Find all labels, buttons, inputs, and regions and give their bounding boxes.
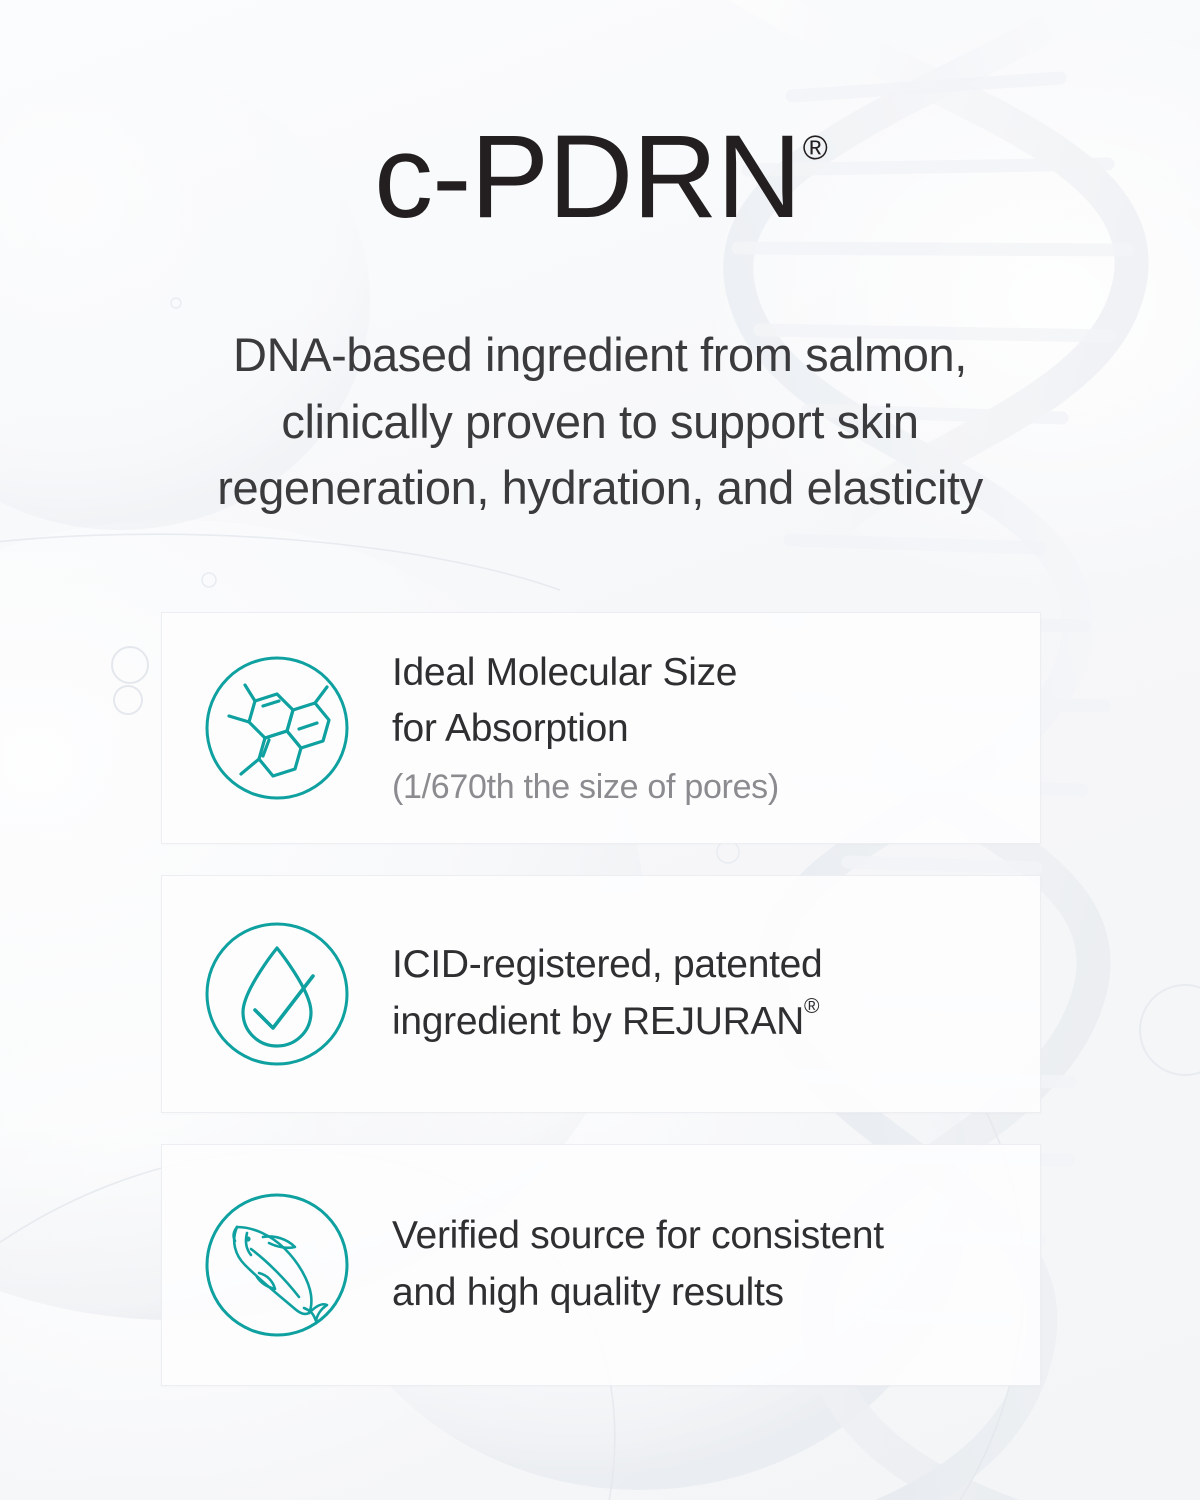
feature-icon-cell <box>162 918 392 1070</box>
subtitle-line-1: DNA-based ingredient from salmon, <box>0 322 1200 389</box>
molecule-icon <box>201 652 353 804</box>
infographic-page: c-PDRN® DNA-based ingredient from salmon… <box>0 0 1200 1500</box>
brand-title-text: c-PDRN <box>374 111 801 243</box>
feature-title-line-2: and high quality results <box>392 1265 1008 1322</box>
feature-title-line-2: for Absorption <box>392 701 1008 758</box>
feature-title-line-1: ICID-registered, patented <box>392 937 1008 994</box>
feature-title-line-1: Ideal Molecular Size <box>392 645 1008 702</box>
fish-icon <box>201 1189 353 1341</box>
registered-trademark-symbol: ® <box>804 995 819 1018</box>
feature-card-molecular-size: Ideal Molecular Size for Absorption (1/6… <box>161 612 1041 844</box>
feature-text-cell: Ideal Molecular Size for Absorption (1/6… <box>392 645 1040 812</box>
feature-icon-cell <box>162 1189 392 1341</box>
feature-title: Ideal Molecular Size for Absorption <box>392 645 1008 758</box>
feature-title-line-2-text: ingredient by REJURAN <box>392 1000 804 1043</box>
feature-title-line-2: ingredient by REJURAN® <box>392 994 1008 1051</box>
content-root: c-PDRN® DNA-based ingredient from salmon… <box>0 0 1200 1500</box>
feature-subtext: (1/670th the size of pores) <box>392 764 1008 812</box>
feature-text-cell: Verified source for consistent and high … <box>392 1208 1040 1321</box>
feature-title: ICID-registered, patented ingredient by … <box>392 937 1008 1050</box>
subtitle-line-2: clinically proven to support skin <box>0 389 1200 456</box>
feature-icon-cell <box>162 652 392 804</box>
feature-card-icid-registered: ICID-registered, patented ingredient by … <box>161 875 1041 1113</box>
subtitle-line-3: regeneration, hydration, and elasticity <box>0 455 1200 522</box>
page-title: c-PDRN® <box>0 118 1200 236</box>
registered-trademark-symbol: ® <box>803 129 828 167</box>
feature-card-list: Ideal Molecular Size for Absorption (1/6… <box>161 612 1041 1417</box>
page-subtitle: DNA-based ingredient from salmon, clinic… <box>0 322 1200 522</box>
brand-title: c-PDRN® <box>374 118 826 236</box>
feature-title: Verified source for consistent and high … <box>392 1208 1008 1321</box>
feature-card-verified-source: Verified source for consistent and high … <box>161 1144 1041 1386</box>
droplet-check-icon <box>201 918 353 1070</box>
feature-title-line-1: Verified source for consistent <box>392 1208 1008 1265</box>
feature-text-cell: ICID-registered, patented ingredient by … <box>392 937 1040 1050</box>
